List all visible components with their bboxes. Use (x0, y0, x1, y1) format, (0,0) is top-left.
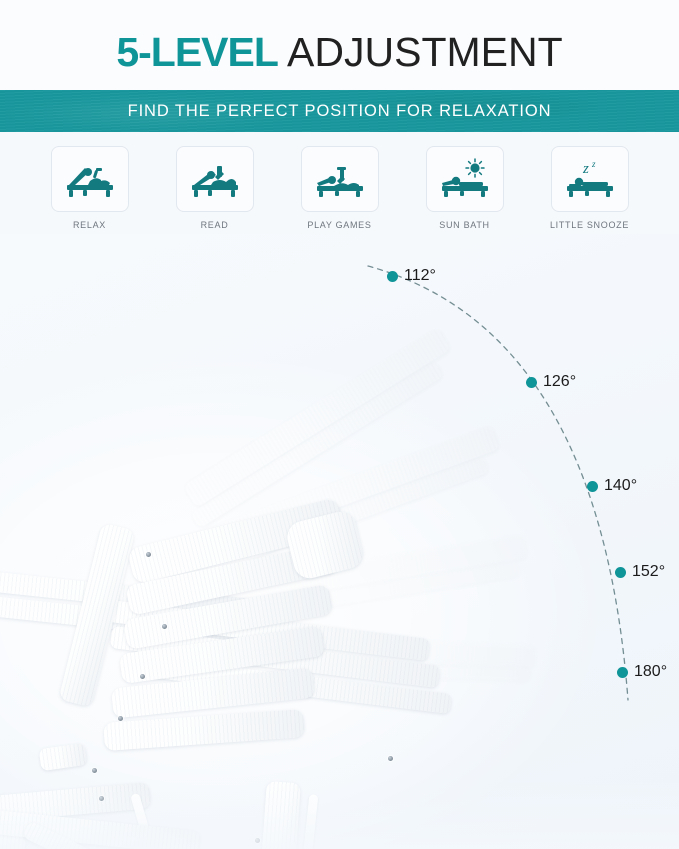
angle-dot-152 (615, 567, 626, 578)
angle-label-152: 152° (632, 563, 665, 581)
angle-dot-180 (617, 667, 628, 678)
page-title-accent: 5-LEVEL (116, 29, 278, 75)
subtitle-banner: FIND THE PERFECT POSITION FOR RELAXATION (0, 90, 679, 132)
mode-item-play-games[interactable]: PLAY GAMES (297, 146, 382, 234)
page-title-rest: ADJUSTMENT (278, 29, 563, 75)
mode-icon-box-play-games (301, 146, 379, 212)
mode-label-read: READ (201, 220, 229, 230)
mode-icon-box-sun-bath (426, 146, 504, 212)
mode-label-little-snooze: LITTLE SNOOZE (550, 220, 629, 230)
angle-dot-126 (526, 377, 537, 388)
angle-label-126: 126° (543, 373, 576, 391)
armrest-support (39, 743, 88, 771)
angle-dot-140 (587, 481, 598, 492)
stage-bottom-fade (0, 779, 679, 849)
screw-3 (140, 674, 145, 679)
person-with-tablet-icon (313, 159, 367, 199)
mode-label-sun-bath: SUN BATH (439, 220, 489, 230)
screw-4 (118, 716, 123, 721)
mode-item-relax[interactable]: RELAX (47, 146, 132, 234)
screw-2 (162, 624, 167, 629)
mode-item-read[interactable]: READ (172, 146, 257, 234)
subtitle-banner-text: FIND THE PERFECT POSITION FOR RELAXATION (128, 102, 552, 121)
svg-text:z: z (582, 161, 589, 177)
header-top: 5-LEVEL ADJUSTMENT (0, 0, 679, 90)
person-lying-flat-sun-icon (438, 158, 492, 200)
mode-item-sun-bath[interactable]: SUN BATH (422, 146, 507, 234)
chaise-lounge-chair (0, 234, 679, 849)
mode-icon-box-read (176, 146, 254, 212)
person-reclining-high-backrest-icon (63, 159, 117, 199)
mode-label-play-games: PLAY GAMES (307, 220, 371, 230)
svg-text:z: z (591, 159, 596, 169)
screw-14 (388, 756, 393, 761)
angle-point-126: 126° (526, 373, 576, 391)
screw-1 (146, 552, 151, 557)
page-title: 5-LEVEL ADJUSTMENT (0, 28, 679, 76)
mode-label-relax: RELAX (73, 220, 106, 230)
person-sleeping-zzz-icon: z z (563, 158, 617, 200)
mode-icon-row: RELAX (0, 146, 679, 234)
person-reading-book-icon (188, 159, 242, 199)
angle-label-180: 180° (634, 663, 667, 681)
mode-item-little-snooze[interactable]: z z LITTLE SNOOZE (547, 146, 632, 234)
angle-point-152: 152° (615, 563, 665, 581)
mode-icon-box-little-snooze: z z (551, 146, 629, 212)
angle-dot-112 (387, 271, 398, 282)
angle-point-180: 180° (617, 663, 667, 681)
mode-icon-box-relax (51, 146, 129, 212)
angle-label-140: 140° (604, 477, 637, 495)
product-photo-stage (0, 234, 679, 849)
screw-5 (92, 768, 97, 773)
angle-label-112: 112° (404, 267, 436, 285)
adjustment-infographic-page: 5-LEVEL ADJUSTMENT FIND THE PERFECT POSI… (0, 0, 679, 849)
angle-point-112: 112° (387, 267, 436, 285)
angle-point-140: 140° (587, 477, 637, 495)
